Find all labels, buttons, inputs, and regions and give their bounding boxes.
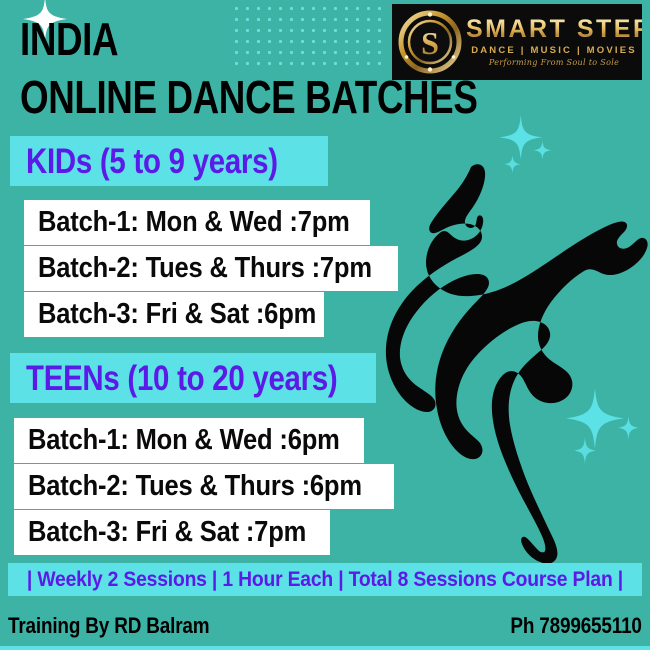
batch-row-label: Batch-1: Mon & Wed :7pm [38, 208, 350, 237]
batch-row-label: Batch-1: Mon & Wed :6pm [28, 426, 340, 455]
page-title-line2: ONLINE DANCE BATCHES [20, 76, 477, 120]
logo-categories: DANCE | MUSIC | MOVIES [466, 45, 642, 56]
batch-row: Batch-3: Fri & Sat :6pm [24, 292, 324, 337]
course-plan-label: | Weekly 2 Sessions | 1 Hour Each | Tota… [27, 569, 623, 590]
page-title-line1: INDIA [20, 18, 118, 62]
logo-brand-name: SMART STEPS [466, 16, 642, 42]
batch-row: Batch-3: Fri & Sat :7pm [14, 510, 330, 555]
logo-text-block: SMART STEPS DANCE | MUSIC | MOVIES Perfo… [462, 16, 642, 67]
svg-text:S: S [421, 25, 439, 61]
batch-row-label: Batch-2: Tues & Thurs :7pm [38, 254, 372, 283]
logo-tagline: Performing From Soul to Sole [470, 58, 637, 68]
logo-monogram-badge-icon: S [398, 10, 462, 74]
contact-phone[interactable]: Ph 7899655110 [511, 615, 642, 637]
batch-row: Batch-1: Mon & Wed :7pm [24, 200, 370, 245]
course-plan-band: | Weekly 2 Sessions | 1 Hour Each | Tota… [8, 563, 642, 596]
trainer-credit: Training By RD Balram [8, 615, 209, 637]
bottom-accent-strip [0, 646, 650, 650]
group-header-kids: KIDs (5 to 9 years) [10, 136, 328, 186]
breakdancer-silhouette-icon [385, 155, 650, 567]
poster-canvas: INDIA ONLINE DANCE BATCHES [0, 0, 650, 650]
batch-row-label: Batch-2: Tues & Thurs :6pm [28, 472, 362, 501]
group-header-kids-label: KIDs (5 to 9 years) [26, 144, 278, 179]
brand-logo: S SMART STEPS DANCE | MUSIC | MOVIES Per… [392, 4, 642, 80]
batch-row-label: Batch-3: Fri & Sat :6pm [38, 300, 316, 329]
dot-grid-pattern-icon [229, 0, 387, 66]
batch-row: Batch-2: Tues & Thurs :6pm [14, 464, 394, 509]
footer-bar: Training By RD Balram Ph 7899655110 [0, 605, 650, 647]
batch-row: Batch-2: Tues & Thurs :7pm [24, 246, 398, 291]
batch-row: Batch-1: Mon & Wed :6pm [14, 418, 364, 463]
batch-row-label: Batch-3: Fri & Sat :7pm [28, 518, 306, 547]
group-header-teens: TEENs (10 to 20 years) [10, 353, 376, 403]
group-header-teens-label: TEENs (10 to 20 years) [26, 361, 337, 396]
